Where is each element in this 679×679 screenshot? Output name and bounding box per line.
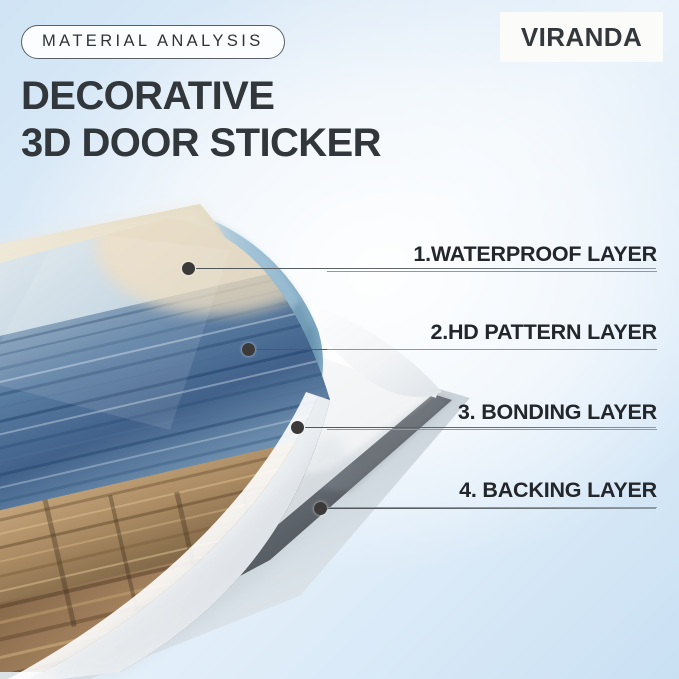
- brand-logo: VIRANDA: [500, 12, 663, 62]
- leader-line-4: [328, 508, 656, 509]
- callout-dot-waterproof: [182, 262, 195, 275]
- callout-dot-bonding: [291, 421, 304, 434]
- brand-logo-text: VIRANDA: [521, 22, 642, 53]
- page-title-line-1: DECORATIVE: [21, 74, 274, 118]
- callout-label-bonding: 3. BONDING LAYER: [327, 400, 657, 430]
- callout-label-hd-pattern: 2.HD PATTERN LAYER: [327, 320, 657, 350]
- page-title-line-2: 3D DOOR STICKER: [21, 120, 381, 167]
- callout-label-waterproof: 1.WATERPROOF LAYER: [327, 242, 657, 272]
- material-analysis-badge: MATERIAL ANALYSIS: [21, 25, 285, 59]
- callout-dot-hd-pattern: [242, 343, 255, 356]
- material-analysis-infographic: 1.WATERPROOF LAYER 2.HD PATTERN LAYER 3.…: [0, 0, 679, 679]
- callout-dot-backing: [314, 502, 327, 515]
- page-title: DECORATIVE 3D DOOR STICKER: [21, 73, 381, 167]
- callout-label-backing: 4. BACKING LAYER: [327, 478, 657, 508]
